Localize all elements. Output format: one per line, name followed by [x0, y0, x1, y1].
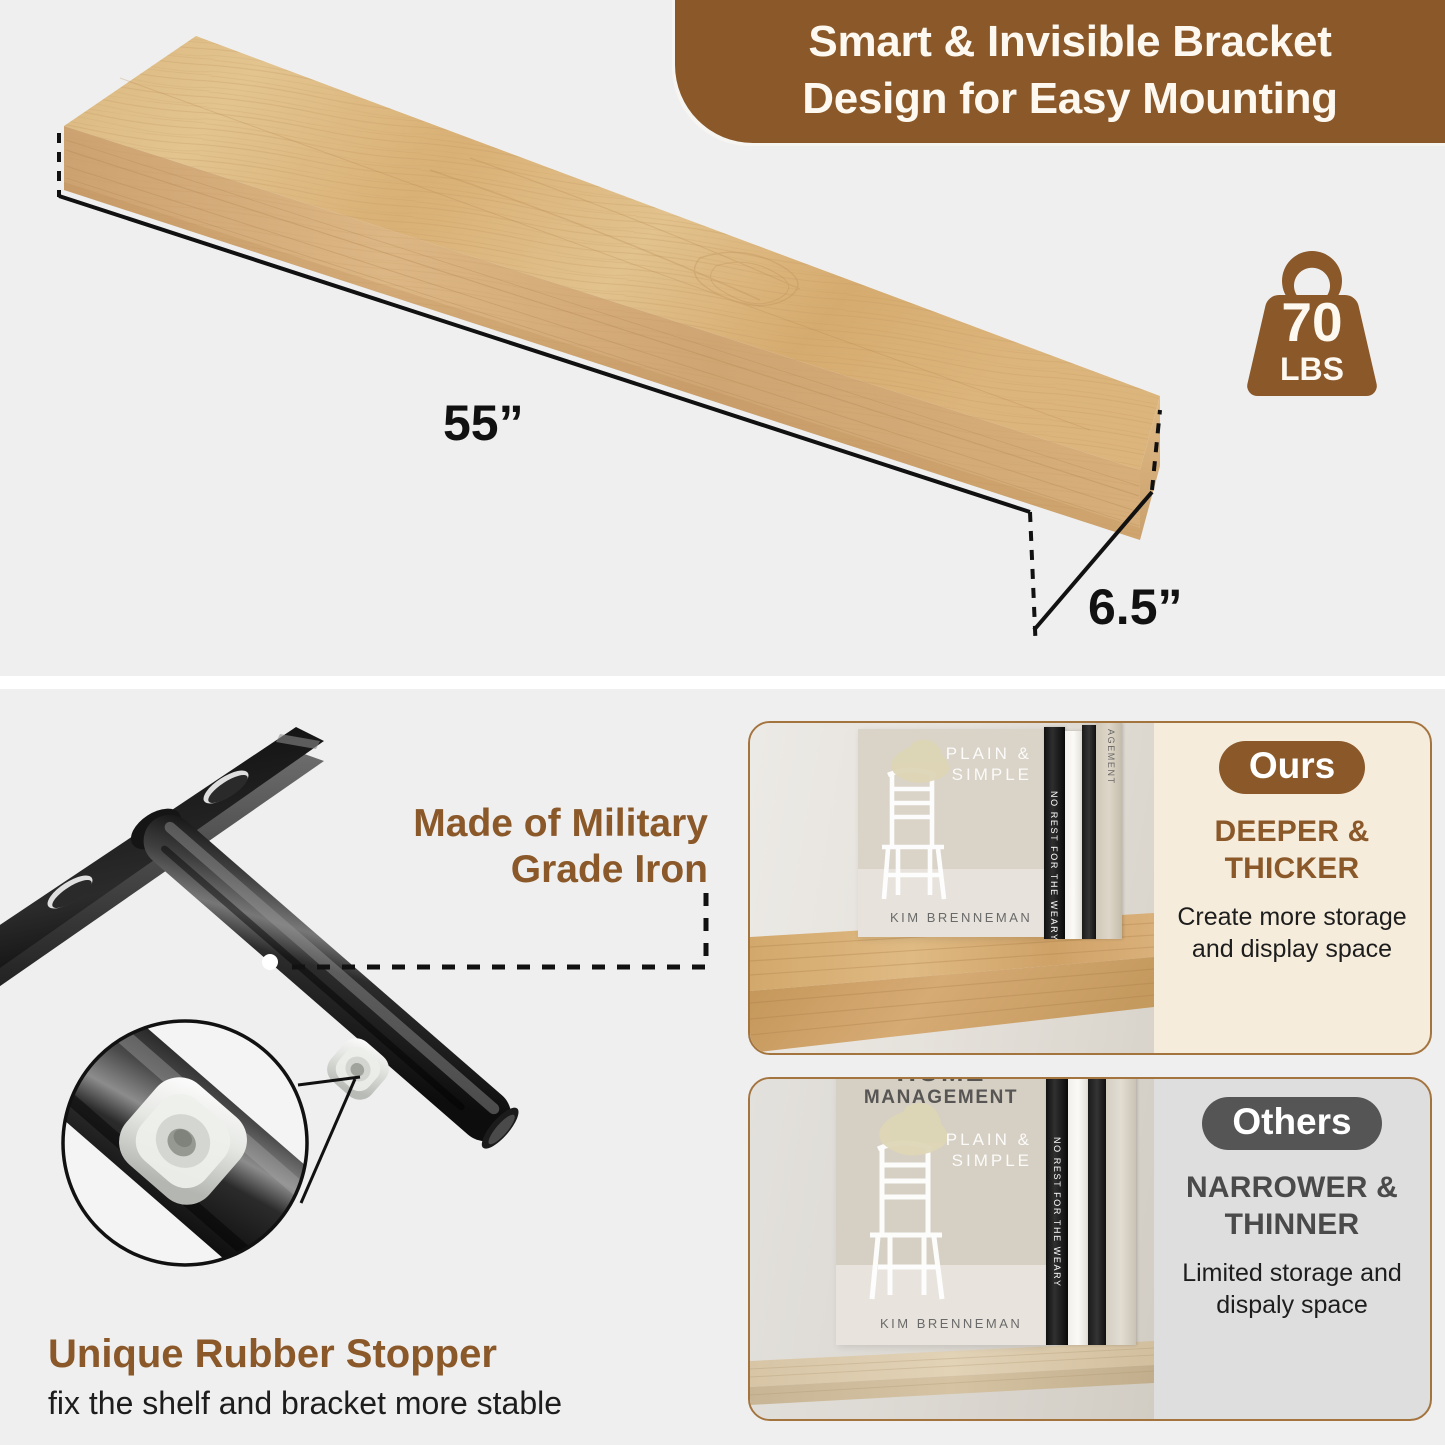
others-spine-light	[1068, 1079, 1088, 1345]
magnifier-callout-icon	[55, 1015, 455, 1315]
bottom-section: Made of Military Grade Iron	[0, 689, 1445, 1445]
infographic-page: 55” 6.5” Smart & Invisible Bracket Desig…	[0, 0, 1445, 1445]
ours-headline: DEEPER & THICKER	[1215, 814, 1370, 887]
section-divider	[0, 676, 1445, 689]
shelf-length-label: 55”	[443, 394, 524, 452]
military-iron-title-line1: Made of Military	[336, 801, 708, 847]
comparison-panel-others: HOME MANAGEMENT PLAIN & SIMPLE KIM BRENN…	[748, 1077, 1432, 1421]
others-book-subtitle: MANAGEMENT	[836, 1087, 1046, 1109]
ours-badge: Ours	[1219, 741, 1365, 794]
header-title-line1: Smart & Invisible Bracket	[808, 14, 1331, 70]
others-photo: HOME MANAGEMENT PLAIN & SIMPLE KIM BRENN…	[750, 1079, 1154, 1419]
ours-spine-dark2	[1082, 725, 1096, 939]
ours-photo: PLAIN & SIMPLE KIM BRENNEMAN NO REST FOR…	[750, 723, 1154, 1053]
others-description: Limited storage and dispaly space	[1154, 1257, 1430, 1321]
military-iron-title-line2: Grade Iron	[336, 847, 708, 893]
others-spine-dark2	[1088, 1079, 1106, 1345]
ours-book-author: KIM BRENNEMAN	[890, 910, 1032, 925]
rubber-stopper-title: Unique Rubber Stopper	[48, 1332, 497, 1376]
ours-description: Create more storage and display space	[1154, 901, 1430, 965]
ours-book-cover: PLAIN & SIMPLE KIM BRENNEMAN	[858, 729, 1044, 937]
top-section: 55” 6.5” Smart & Invisible Bracket Desig…	[0, 0, 1445, 676]
header-title-line2: Design for Easy Mounting	[802, 71, 1338, 127]
weight-unit: LBS	[1237, 353, 1387, 385]
ours-text-block: Ours DEEPER & THICKER Create more storag…	[1154, 723, 1430, 1053]
others-spine-dark: NO REST FOR THE WEARY	[1046, 1079, 1068, 1345]
weight-badge: 70 LBS	[1237, 243, 1387, 403]
rubber-stopper-subtitle: fix the shelf and bracket more stable	[48, 1386, 562, 1421]
ours-spine-light	[1065, 731, 1082, 939]
military-iron-title: Made of Military Grade Iron	[336, 801, 708, 893]
others-shelf-photo	[750, 1335, 1154, 1405]
shelf-depth-label: 6.5”	[1088, 578, 1183, 636]
others-book-author: KIM BRENNEMAN	[880, 1316, 1022, 1331]
ours-book-title: PLAIN & SIMPLE	[946, 743, 1032, 786]
others-book-cover: HOME MANAGEMENT PLAIN & SIMPLE KIM BRENN…	[836, 1079, 1046, 1345]
ours-spine-tall: AGEMENT	[1096, 723, 1122, 939]
others-text-block: Others NARROWER & THINNER Limited storag…	[1154, 1079, 1430, 1419]
ours-spine-dark: NO REST FOR THE WEARY	[1044, 727, 1065, 939]
weight-value: 70	[1237, 295, 1387, 350]
header-banner: Smart & Invisible Bracket Design for Eas…	[675, 0, 1445, 143]
others-badge: Others	[1202, 1097, 1381, 1150]
others-spine-tall	[1106, 1079, 1136, 1345]
others-headline: NARROWER & THINNER	[1186, 1170, 1398, 1243]
leader-dot	[262, 954, 278, 970]
others-book-title: PLAIN & SIMPLE	[946, 1129, 1032, 1172]
comparison-panel-ours: PLAIN & SIMPLE KIM BRENNEMAN NO REST FOR…	[748, 721, 1432, 1055]
military-iron-leader-line	[285, 889, 715, 979]
